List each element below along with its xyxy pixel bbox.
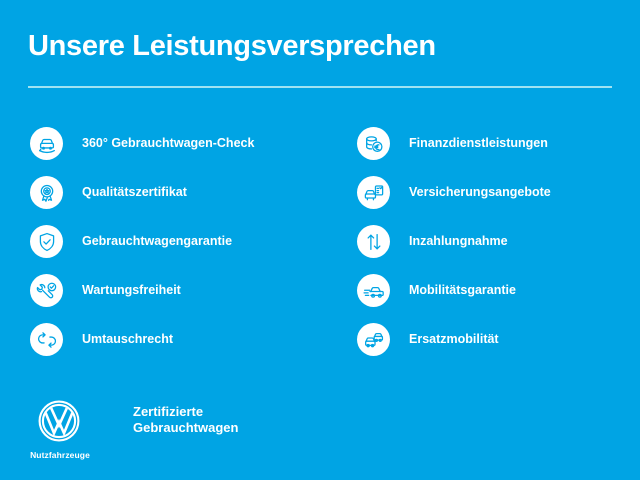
benefit-label: Gebrauchtwagengarantie xyxy=(82,225,232,258)
benefit-item-umtauschrecht[interactable]: Umtauschrecht xyxy=(30,323,330,372)
footer-tagline: Zertifizierte Gebrauchtwagen xyxy=(133,404,238,436)
page-title: Unsere Leistungsversprechen xyxy=(28,30,436,63)
benefit-item-finanzdienstleistungen[interactable]: Finanzdienstleistungen xyxy=(357,127,627,176)
benefit-label: Wartungsfreiheit xyxy=(82,274,181,307)
arrows-up-down-icon xyxy=(357,225,390,258)
benefits-column-right: Finanzdienstleistungen Versicherungsange… xyxy=(357,127,627,372)
benefit-label: Versicherungsangebote xyxy=(409,176,551,209)
benefit-label: Ersatzmobilität xyxy=(409,323,499,356)
award-rosette-icon xyxy=(30,176,63,209)
benefit-item-qualitaetszertifikat[interactable]: Qualitätszertifikat xyxy=(30,176,330,225)
benefit-item-mobilitaetsgarantie[interactable]: Mobilitätsgarantie xyxy=(357,274,627,323)
car-360-check-icon xyxy=(30,127,63,160)
benefit-label: Finanzdienstleistungen xyxy=(409,127,548,160)
benefit-label: Mobilitätsgarantie xyxy=(409,274,516,307)
coins-euro-icon xyxy=(357,127,390,160)
vw-wordmark: Nutzfahrzeuge xyxy=(28,450,92,460)
wrench-check-icon xyxy=(30,274,63,307)
benefit-item-versicherungsangebote[interactable]: Versicherungsangebote xyxy=(357,176,627,225)
benefit-label: Inzahlungnahme xyxy=(409,225,508,258)
exchange-arrows-icon xyxy=(30,323,63,356)
benefit-item-wartungsfreiheit[interactable]: Wartungsfreiheit xyxy=(30,274,330,323)
benefit-item-ersatzmobilitaet[interactable]: Ersatzmobilität xyxy=(357,323,627,372)
benefit-item-gebrauchtwagengarantie[interactable]: Gebrauchtwagengarantie xyxy=(30,225,330,274)
two-cars-icon xyxy=(357,323,390,356)
benefit-label: Umtauschrecht xyxy=(82,323,173,356)
footer-tagline-line1: Zertifizierte xyxy=(133,404,238,420)
benefit-item-gebrauchtwagen-check[interactable]: 360° Gebrauchtwagen-Check xyxy=(30,127,330,176)
footer-tagline-line2: Gebrauchtwagen xyxy=(133,420,238,436)
vw-logo-block: Nutzfahrzeuge xyxy=(30,399,92,460)
shield-check-icon xyxy=(30,225,63,258)
footer-brand-block: Nutzfahrzeuge Zertifizierte Gebrauchtwag… xyxy=(30,399,238,460)
vw-logo xyxy=(30,399,88,443)
benefits-column-left: 360° Gebrauchtwagen-Check Qualitätszerti… xyxy=(30,127,330,372)
benefit-label: Qualitätszertifikat xyxy=(82,176,187,209)
title-divider xyxy=(28,86,612,88)
benefit-item-inzahlungnahme[interactable]: Inzahlungnahme xyxy=(357,225,627,274)
car-document-check-icon xyxy=(357,176,390,209)
benefit-label: 360° Gebrauchtwagen-Check xyxy=(82,127,254,160)
car-motion-icon xyxy=(357,274,390,307)
slide-canvas: Unsere Leistungsversprechen 360° Gebrauc… xyxy=(0,0,640,480)
